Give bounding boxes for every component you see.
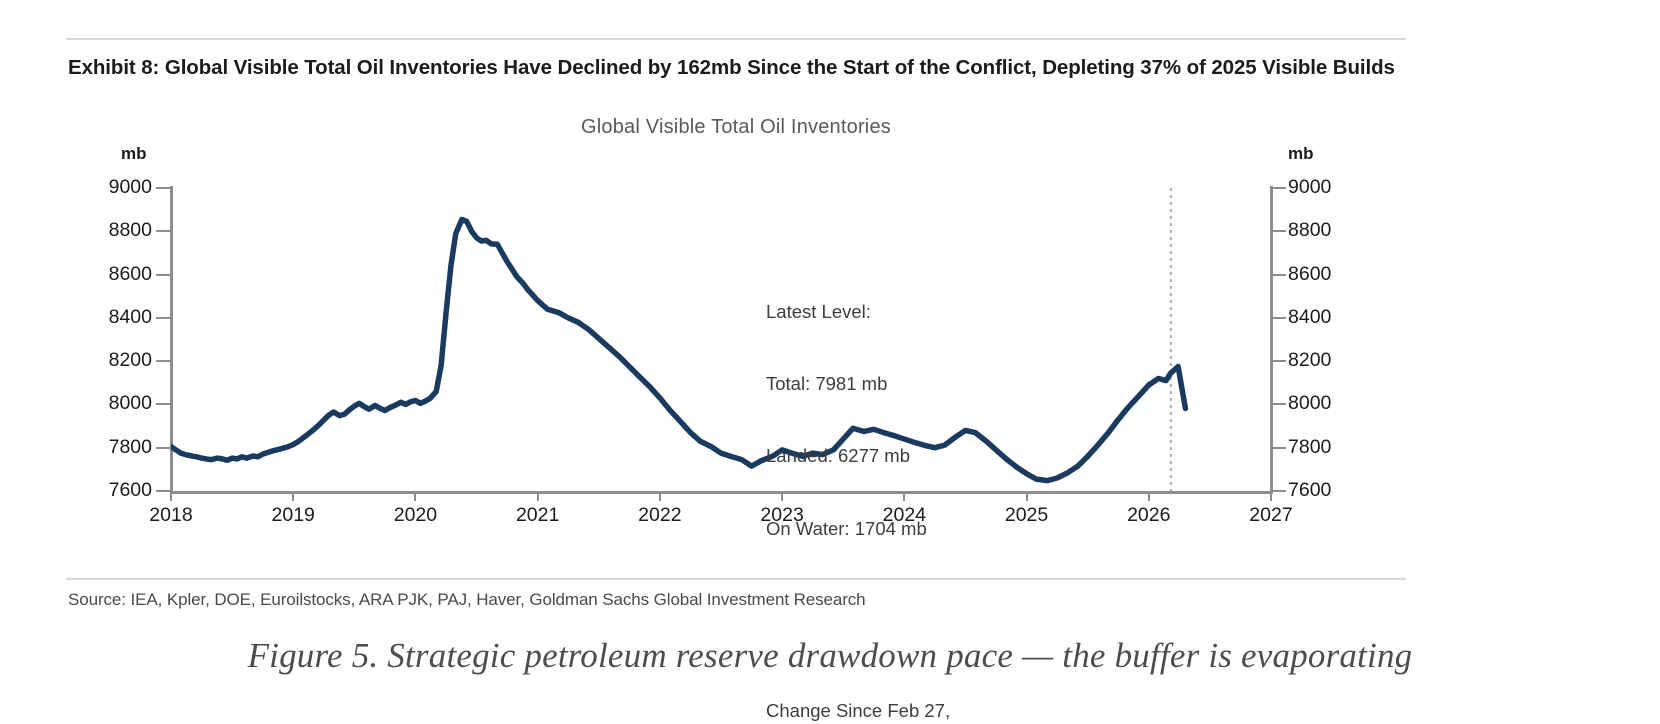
y-tick-right: [1272, 230, 1286, 232]
y-axis-label-left: 8000: [109, 392, 152, 415]
y-tick-left: [156, 403, 170, 405]
x-tick: [537, 493, 539, 501]
y-axis-label-right: 8600: [1288, 263, 1331, 286]
y-tick-left: [156, 274, 170, 276]
y-axis-label-left: 7600: [109, 479, 152, 502]
inventory-line-chart: [171, 188, 1271, 491]
y-axis-label-left: 8400: [109, 306, 152, 329]
figure-caption: Figure 5. Strategic petroleum reserve dr…: [0, 636, 1660, 676]
plot-area: [171, 188, 1271, 491]
x-axis-label: 2023: [760, 504, 803, 527]
y-axis-label-left: 8800: [109, 219, 152, 242]
latest-level-landed: Landed: 6277 mb: [766, 444, 950, 468]
x-axis-label: 2022: [638, 504, 681, 527]
x-tick: [903, 493, 905, 501]
x-tick: [170, 493, 172, 501]
top-divider: [66, 38, 1406, 40]
x-tick: [1026, 493, 1028, 501]
annotation-latest-level: Latest Level: Total: 7981 mb Landed: 627…: [766, 252, 950, 589]
x-tick: [659, 493, 661, 501]
y-axis-label-left: 8200: [109, 349, 152, 372]
x-axis-label: 2024: [883, 504, 926, 527]
x-axis-label: 2027: [1249, 504, 1292, 527]
y-axis-label-right: 8200: [1288, 349, 1331, 372]
source-note: Source: IEA, Kpler, DOE, Euroilstocks, A…: [68, 590, 866, 610]
y-tick-left: [156, 490, 170, 492]
x-axis-spine: [170, 491, 1273, 494]
page-root: Exhibit 8: Global Visible Total Oil Inve…: [0, 0, 1660, 724]
x-tick: [1148, 493, 1150, 501]
chart-container: Global Visible Total Oil Inventories mb …: [66, 116, 1406, 551]
y-axis-label-left: 7800: [109, 436, 152, 459]
y-axis-label-left: 8600: [109, 263, 152, 286]
x-axis-label: 2018: [149, 504, 192, 527]
x-axis-label: 2021: [516, 504, 559, 527]
y-axis-label-right: 8400: [1288, 306, 1331, 329]
y-axis-label-right: 8000: [1288, 392, 1331, 415]
x-tick: [1270, 493, 1272, 501]
chart-title: Global Visible Total Oil Inventories: [66, 116, 1406, 139]
y-tick-right: [1272, 403, 1286, 405]
latest-level-total: Total: 7981 mb: [766, 372, 950, 396]
x-tick: [781, 493, 783, 501]
y-axis-label-right: 8800: [1288, 219, 1331, 242]
exhibit-card: Exhibit 8: Global Visible Total Oil Inve…: [66, 38, 1406, 608]
y-tick-right: [1272, 187, 1286, 189]
y-tick-left: [156, 360, 170, 362]
series-line-total-inventories: [171, 219, 1185, 480]
latest-level-heading: Latest Level:: [766, 300, 950, 324]
y-tick-right: [1272, 447, 1286, 449]
y-tick-right: [1272, 274, 1286, 276]
y-tick-right: [1272, 360, 1286, 362]
y-axis-label-right: 9000: [1288, 176, 1331, 199]
y-tick-right: [1272, 317, 1286, 319]
y-tick-left: [156, 447, 170, 449]
y-axis-left-unit: mb: [121, 144, 147, 164]
y-axis-label-right: 7600: [1288, 479, 1331, 502]
x-tick: [414, 493, 416, 501]
x-axis-label: 2026: [1127, 504, 1170, 527]
bottom-divider: [66, 578, 1406, 580]
y-tick-left: [156, 230, 170, 232]
x-tick: [292, 493, 294, 501]
y-axis-right-unit: mb: [1288, 144, 1314, 164]
x-axis-label: 2025: [1005, 504, 1048, 527]
change-since-heading: Change Since Feb 27,: [766, 699, 950, 723]
exhibit-title: Exhibit 8: Global Visible Total Oil Inve…: [68, 54, 1398, 81]
y-tick-left: [156, 317, 170, 319]
y-axis-label-right: 7800: [1288, 436, 1331, 459]
y-axis-label-left: 9000: [109, 176, 152, 199]
y-tick-right: [1272, 490, 1286, 492]
x-axis-label: 2019: [272, 504, 315, 527]
x-axis-label: 2020: [394, 504, 437, 527]
y-tick-left: [156, 187, 170, 189]
